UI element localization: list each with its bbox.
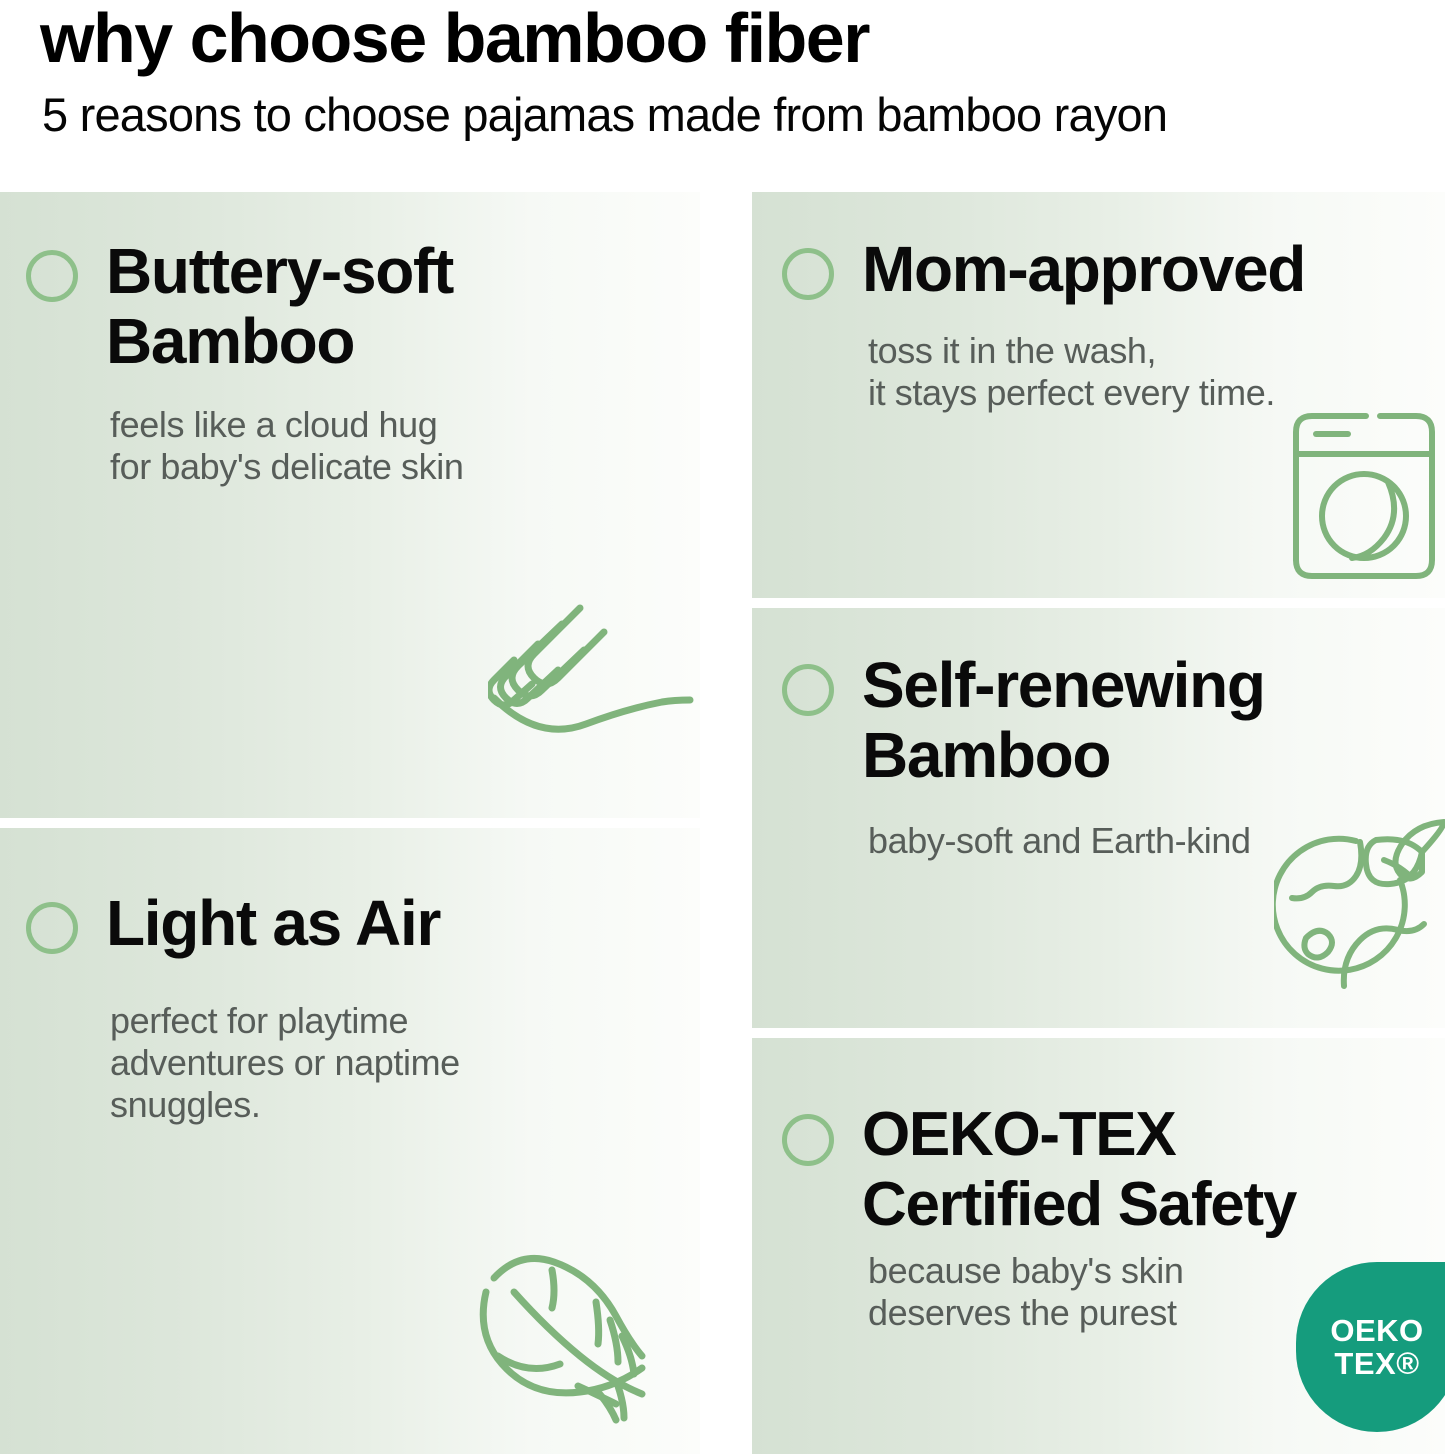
- card-description: toss it in the wash, it stays perfect ev…: [868, 330, 1275, 414]
- card-title: Mom-approved: [862, 234, 1305, 304]
- card-title: Self-renewing Bamboo: [862, 650, 1265, 790]
- card-description: baby-soft and Earth-kind: [868, 820, 1251, 862]
- circle-outline-icon: [26, 902, 78, 954]
- washing-machine-icon: [1284, 406, 1444, 586]
- page-title: why choose bamboo fiber: [40, 0, 869, 78]
- circle-outline-icon: [26, 250, 78, 302]
- earth-globe-leaf-icon: [1274, 818, 1445, 998]
- oeko-badge-line2: TEX®: [1334, 1347, 1419, 1380]
- card-title: Light as Air: [106, 888, 440, 958]
- card-header-buttery-soft-bamboo: Buttery-soft Bamboo: [26, 236, 453, 376]
- card-header-light-as-air: Light as Air: [26, 888, 440, 958]
- circle-outline-icon: [782, 248, 834, 300]
- page-header: why choose bamboo fiber 5 reasons to cho…: [0, 0, 1445, 192]
- card-description: perfect for playtime adventures or napti…: [110, 1000, 460, 1126]
- card-title: Buttery-soft Bamboo: [106, 236, 453, 376]
- page-subtitle: 5 reasons to choose pajamas made from ba…: [42, 86, 1167, 144]
- card-description: because baby's skin deserves the purest: [868, 1250, 1183, 1334]
- card-header-oeko-tex: OEKO-TEX Certified Safety: [782, 1100, 1296, 1240]
- hand-touch-fabric-icon: [488, 600, 698, 770]
- oeko-tex-droplet-badge: OEKO TEX®: [1296, 1262, 1445, 1432]
- card-description: feels like a cloud hug for baby's delica…: [110, 404, 463, 488]
- card-header-mom-approved: Mom-approved: [782, 234, 1305, 304]
- circle-outline-icon: [782, 1114, 834, 1166]
- card-header-self-renewing-bamboo: Self-renewing Bamboo: [782, 650, 1265, 790]
- circle-outline-icon: [782, 664, 834, 716]
- card-title: OEKO-TEX Certified Safety: [862, 1100, 1296, 1240]
- infographic-page: why choose bamboo fiber 5 reasons to cho…: [0, 0, 1445, 1454]
- oeko-badge-line1: OEKO: [1330, 1314, 1423, 1347]
- feather-icon: [470, 1240, 700, 1440]
